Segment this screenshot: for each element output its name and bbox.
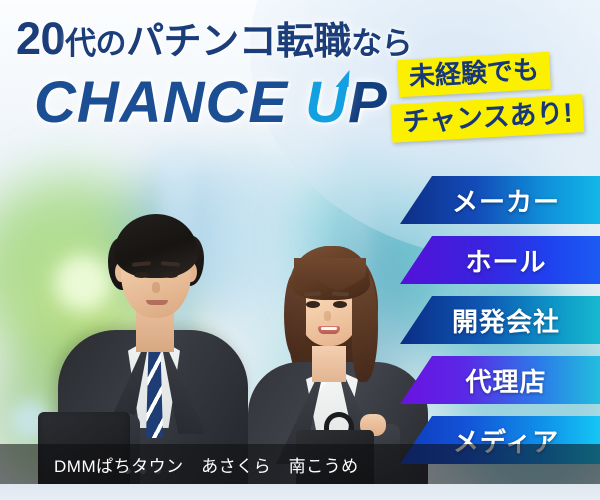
category-label: ホール (453, 242, 546, 279)
mouth (146, 300, 168, 305)
category-label: メーカー (440, 182, 560, 219)
bokeh-highlight (55, 255, 111, 311)
neck (312, 346, 346, 382)
teeth (321, 327, 337, 330)
logo-letter-u: U (305, 74, 348, 132)
striped-tie (146, 352, 163, 438)
credit-text: DMMぱちタウン あさくら 南こうめ (0, 452, 359, 477)
page-title: 20代のパチンコ転職なら (16, 16, 412, 63)
credit-bar: DMMぱちタウン あさくら 南こうめ (0, 444, 600, 484)
eye-left (134, 272, 149, 278)
eye-left (306, 301, 320, 308)
promo-badge-group: 未経験でも チャンスあり! (398, 56, 600, 131)
headline-lead-number: 20 (16, 13, 65, 64)
category-list: メーカー ホール 開発会社 代理店 メディア (400, 176, 600, 476)
headline-keyword: パチンコ転職 (126, 21, 351, 63)
bottom-strip (0, 484, 600, 500)
logo-word-chance: CHANCE (34, 70, 288, 135)
category-button-hall[interactable]: ホール (400, 236, 600, 284)
category-button-agency[interactable]: 代理店 (400, 356, 600, 404)
brand-logo: CHANCE UP (34, 74, 388, 132)
category-label: 代理店 (453, 362, 546, 399)
nose (324, 311, 331, 321)
category-label: 開発会社 (440, 302, 560, 339)
eye-right (333, 301, 347, 308)
eye-right (163, 272, 178, 278)
ad-banner[interactable]: 20代のパチンコ転職なら CHANCE UP 未経験でも チャンスあり! メーカ… (0, 0, 600, 500)
logo-letter-p: P (348, 70, 388, 135)
category-button-maker[interactable]: メーカー (400, 176, 600, 224)
nose (152, 282, 160, 293)
headline-lead-suffix: 代の (65, 26, 126, 61)
category-button-developer[interactable]: 開発会社 (400, 296, 600, 344)
status-badge: 未経験でも (397, 52, 551, 98)
